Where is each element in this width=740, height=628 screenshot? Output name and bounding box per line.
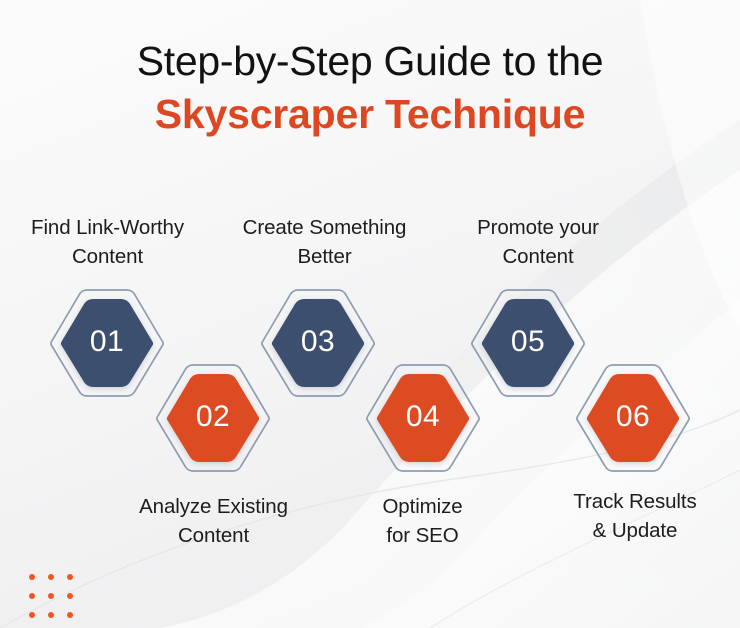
step-label-04-line1: Optimize — [330, 492, 515, 521]
infographic-canvas: Step-by-Step Guide to the Skyscraper Tec… — [0, 0, 740, 628]
step-label-01-line2: Content — [10, 242, 205, 271]
dot — [67, 612, 73, 618]
dot — [48, 593, 54, 599]
step-label-02: Analyze Existing Content — [116, 492, 311, 550]
hex-step-05[interactable] — [482, 299, 574, 387]
step-label-04: Optimize for SEO — [330, 492, 515, 550]
dot — [29, 593, 35, 599]
dot — [48, 612, 54, 618]
step-label-03: Create Something Better — [222, 213, 427, 271]
step-label-02-line1: Analyze Existing — [116, 492, 311, 521]
step-label-03-line1: Create Something — [222, 213, 427, 242]
step-label-05-line1: Promote your — [438, 213, 638, 242]
dot — [48, 574, 54, 580]
dot — [67, 593, 73, 599]
dot-grid-decoration — [29, 574, 73, 618]
step-label-06: Track Results & Update — [540, 487, 730, 545]
hex-step-06[interactable] — [587, 374, 679, 462]
hex-step-03[interactable] — [272, 299, 364, 387]
step-label-02-line2: Content — [116, 521, 311, 550]
hex-step-04[interactable] — [377, 374, 469, 462]
step-label-05-line2: Content — [438, 242, 638, 271]
step-label-06-line2: & Update — [540, 516, 730, 545]
step-label-06-line1: Track Results — [540, 487, 730, 516]
dot — [29, 612, 35, 618]
hex-step-02[interactable] — [167, 374, 259, 462]
step-label-01: Find Link-Worthy Content — [10, 213, 205, 271]
step-label-04-line2: for SEO — [330, 521, 515, 550]
dot — [67, 574, 73, 580]
step-label-01-line1: Find Link-Worthy — [10, 213, 205, 242]
hex-step-01[interactable] — [61, 299, 153, 387]
step-label-05: Promote your Content — [438, 213, 638, 271]
step-label-03-line2: Better — [222, 242, 427, 271]
dot — [29, 574, 35, 580]
